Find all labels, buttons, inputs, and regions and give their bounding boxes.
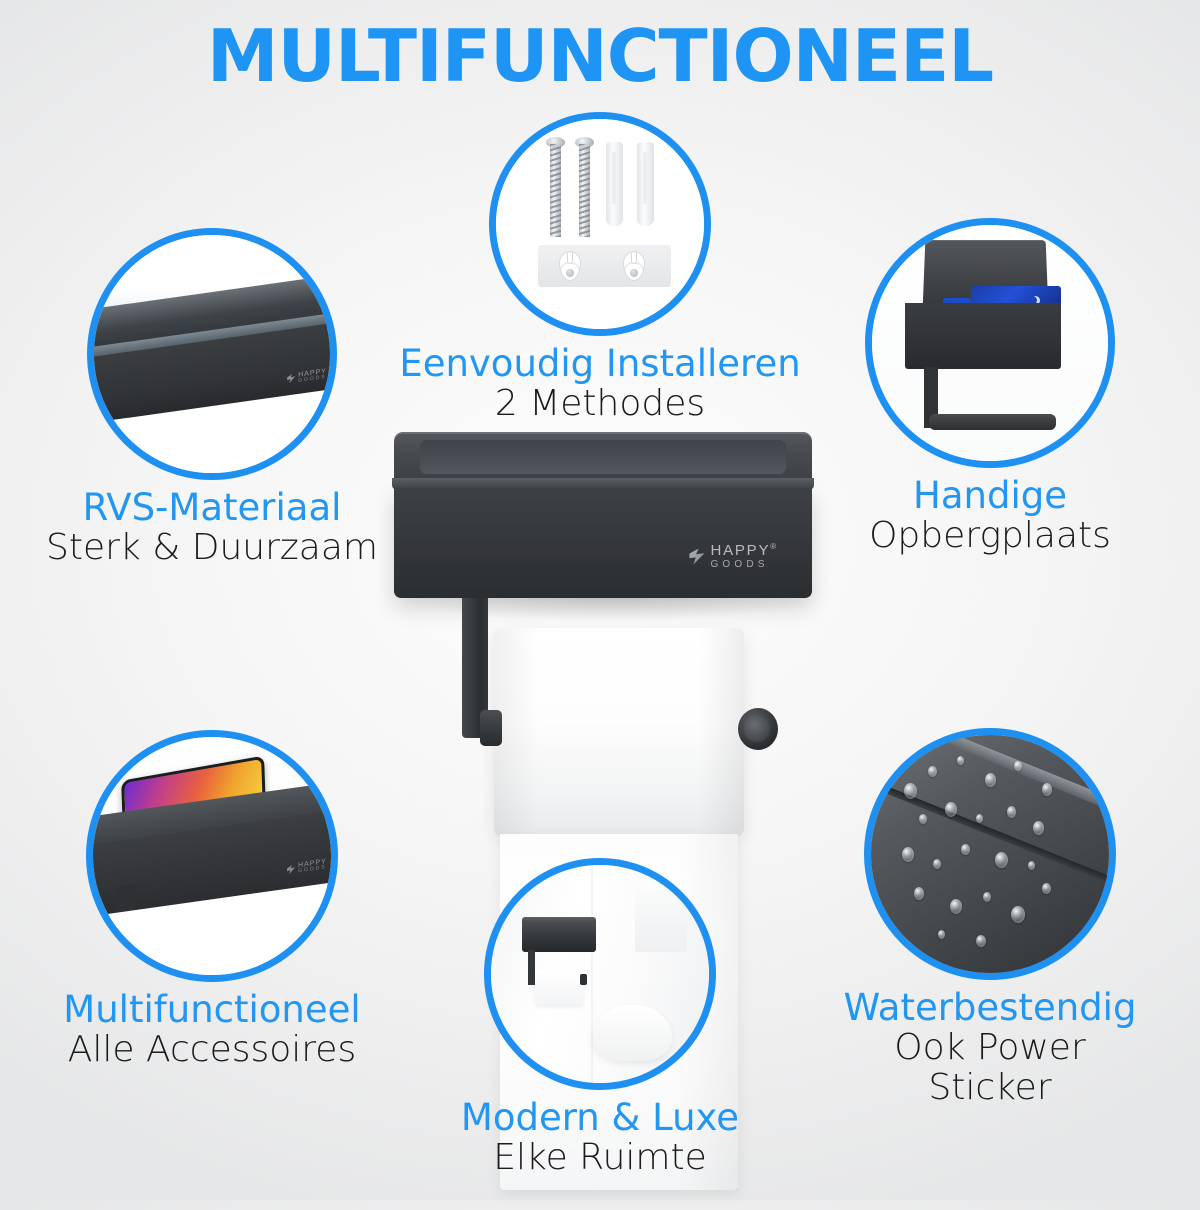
poster-canvas: MULTIFUNCTIONEEL — [0, 0, 1200, 1200]
water-drop-icon — [933, 859, 941, 869]
feature-subtitle: Elke Ruimte — [380, 1138, 820, 1178]
page-title: MULTIFUNCTIONEEL — [0, 14, 1200, 98]
water-drop-icon — [904, 783, 917, 799]
feature-heading: Multifunctioneel — [0, 990, 432, 1030]
roll-rod-right-knob — [738, 708, 778, 750]
water-drop-icon — [985, 773, 996, 787]
feature-subtitle: Sterk & Duurzaam — [0, 528, 432, 568]
brand-logo: HAPPY® GOODS — [689, 543, 778, 570]
material-closeup-photo: HAPPY GOODS — [94, 235, 330, 473]
feature-photo-ring-storage — [865, 218, 1115, 468]
water-drop-icon — [1014, 761, 1022, 771]
water-drop-icon — [902, 847, 914, 862]
water-drop-icon — [1033, 821, 1044, 835]
phone-on-shelf-photo: HAPPY GOODS — [93, 737, 331, 975]
water-drop-icon — [1042, 783, 1052, 796]
water-drop-icon — [1042, 883, 1051, 894]
wall-plug-icon — [637, 142, 654, 226]
water-drop-icon — [950, 899, 962, 914]
feature-eenvoudig-installeren: Eenvoudig Installeren 2 Methodes — [380, 112, 820, 424]
water-drop-icon — [961, 844, 970, 855]
feature-subtitle: 2 Methodes — [380, 384, 820, 424]
water-drop-icon — [1011, 906, 1025, 923]
logo-line2: GOODS — [710, 560, 778, 570]
water-drop-icon — [983, 892, 991, 902]
feature-rvs-materiaal: HAPPY GOODS RVS-Materiaal Sterk & Duurza… — [0, 228, 432, 568]
water-drop-icon — [928, 766, 937, 777]
feature-heading: Modern & Luxe — [380, 1098, 820, 1138]
mounting-plate — [538, 245, 671, 287]
happy-goods-mark-icon — [689, 549, 704, 565]
water-drop-icon — [938, 930, 945, 939]
feature-multifunctioneel: HAPPY GOODS Multifunctioneel Alle Access… — [0, 730, 432, 1070]
feature-photo-ring-waterproof — [864, 728, 1116, 980]
feature-photo-ring-install — [489, 112, 711, 336]
keyhole-slot-icon — [559, 251, 581, 281]
water-droplets-photo — [871, 735, 1109, 973]
registered-mark: ® — [770, 542, 778, 551]
roll-rod-left — [480, 710, 502, 746]
feature-heading: RVS-Materiaal — [0, 488, 432, 528]
feature-photo-ring-modern — [484, 858, 716, 1090]
water-drop-icon — [995, 852, 1008, 868]
feature-subtitle: Alle Accessoires — [0, 1030, 432, 1070]
feature-photo-ring-material: HAPPY GOODS — [87, 228, 337, 480]
logo-line1: HAPPY — [710, 542, 770, 559]
water-drop-icon — [919, 814, 927, 824]
product-body: HAPPY® GOODS — [394, 488, 812, 598]
water-drop-icon — [1007, 806, 1016, 818]
water-drop-icon — [945, 802, 957, 817]
install-kit-photo — [496, 119, 704, 329]
water-drop-icon — [914, 887, 924, 900]
water-drop-icon — [1028, 861, 1035, 870]
feature-photo-ring-multifunction: HAPPY GOODS — [86, 730, 338, 982]
keyhole-slot-icon — [623, 251, 645, 281]
wall-plug-icon — [606, 142, 623, 226]
water-drop-icon — [976, 935, 986, 947]
product-lid-inset — [420, 440, 786, 474]
feature-heading: Eenvoudig Installeren — [380, 344, 820, 384]
water-drop-icon — [976, 814, 983, 823]
screw-icon — [550, 144, 561, 236]
open-storage-photo — [872, 225, 1108, 461]
screw-icon — [579, 144, 590, 236]
water-drop-icon — [957, 756, 964, 765]
bathroom-scene-photo — [491, 865, 709, 1083]
feature-modern-luxe: Modern & Luxe Elke Ruimte — [380, 858, 820, 1178]
